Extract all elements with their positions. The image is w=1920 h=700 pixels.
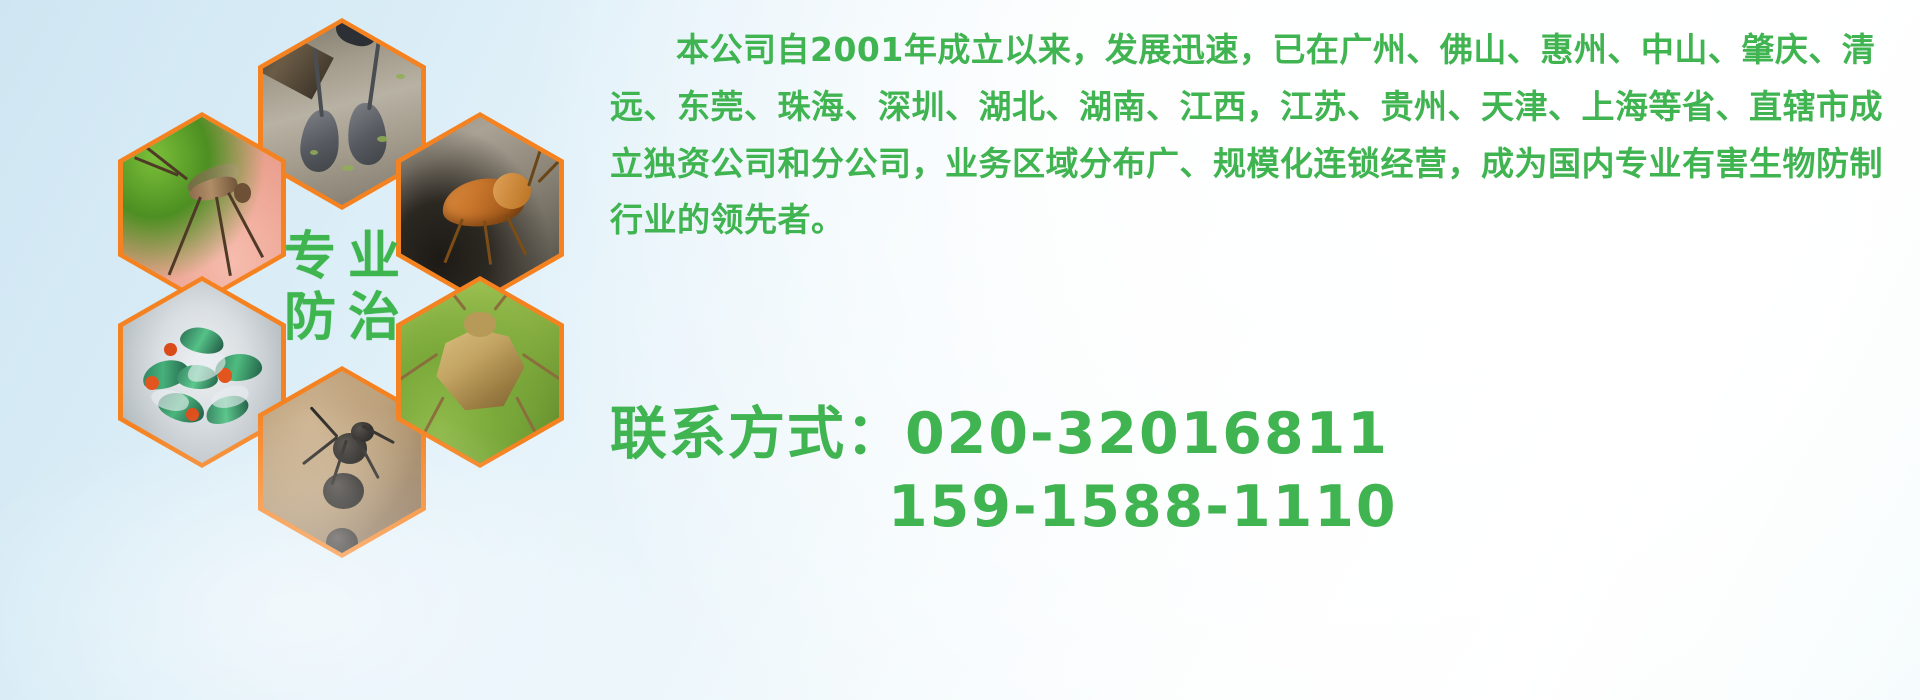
stinkbug-body (432, 324, 529, 417)
stinkbug-antenna (444, 283, 467, 311)
shoe-shape (332, 23, 380, 50)
mosquito-head (234, 183, 251, 203)
stinkbug-leg (420, 397, 445, 440)
fly-thorax (164, 343, 177, 356)
stinkbug-leg (515, 397, 540, 440)
fly-thorax (186, 408, 199, 421)
stinkbug-antenna (493, 283, 516, 311)
collage-center-label: 专业 防治 (258, 192, 426, 384)
ant-leg (309, 406, 338, 438)
intro-paragraph-wrap: 本公司自2001年成立以来，发展迅速，已在广州、佛山、惠州、中山、肇庆、清远、东… (610, 22, 1908, 249)
honeycomb-collage: 专业 防治 (0, 0, 620, 700)
landline-number[interactable]: 020-32016811 (905, 401, 1389, 467)
rat-tail-shape (367, 42, 381, 111)
cockroach-leg (443, 218, 463, 263)
rat-shape (346, 102, 388, 166)
rat-shape (298, 109, 342, 174)
debris-speck (342, 165, 354, 171)
shoe-shape (380, 23, 421, 49)
ant-shape (326, 528, 358, 553)
contact-block: 联系方式：020-32016811 159-1588-1110 (610, 398, 1920, 544)
ant-gaster (323, 473, 364, 509)
contact-line-mobile: 159-1588-1110 (610, 471, 1920, 544)
contact-line-landline: 联系方式：020-32016811 (610, 398, 1920, 471)
promo-banner: 专业 防治 本公司自2001年成立以来，发展迅速，已在广州、佛山、惠州、中山、肇… (0, 0, 1920, 700)
cockroach-leg (483, 221, 492, 265)
center-label-line-1: 专业 (272, 227, 412, 288)
plank-shape (263, 23, 333, 99)
cockroach-leg (505, 215, 526, 255)
center-label-line-2: 防治 (272, 288, 412, 349)
debris-speck (396, 74, 405, 79)
intro-copy-block: 本公司自2001年成立以来，发展迅速，已在广州、佛山、惠州、中山、肇庆、清远、东… (610, 22, 1910, 249)
fly-shape (178, 325, 226, 358)
mobile-number[interactable]: 159-1588-1110 (888, 474, 1398, 540)
cockroach-antenna (537, 153, 559, 184)
mosquito-leg (168, 197, 202, 276)
mosquito-leg (215, 197, 231, 276)
mosquito-proboscis (123, 117, 125, 188)
stinkbug-leg (522, 353, 559, 386)
intro-paragraph: 本公司自2001年成立以来，发展迅速，已在广州、佛山、惠州、中山、肇庆、清远、东… (610, 22, 1908, 249)
contact-label: 联系方式： (610, 401, 905, 467)
debris-speck (377, 136, 388, 142)
